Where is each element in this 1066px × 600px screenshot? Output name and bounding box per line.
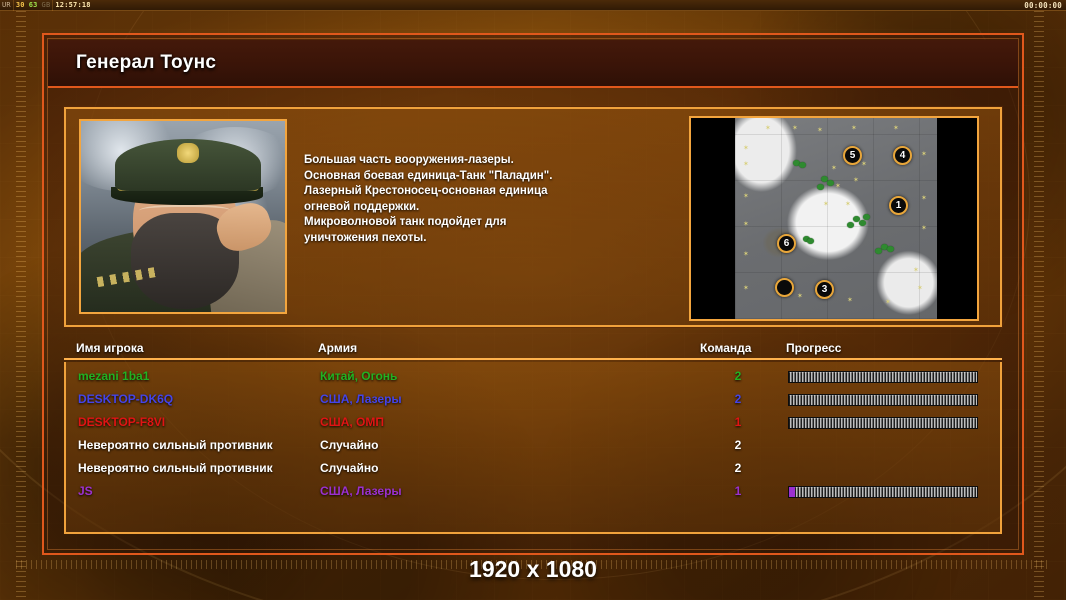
player-name: JS xyxy=(78,484,93,498)
map-resource-icon: ✶ xyxy=(835,184,841,190)
status-value-a: 30 xyxy=(14,0,27,11)
map-tree-icon xyxy=(859,220,866,226)
status-value-b: 63 xyxy=(27,0,40,11)
status-unit: GB xyxy=(40,0,53,11)
player-name: DESKTOP-F8VI xyxy=(78,415,165,429)
player-team: 2 xyxy=(728,438,748,452)
player-team: 2 xyxy=(728,461,748,475)
map-tree-icon xyxy=(799,162,806,168)
map-resource-icon: ✶ xyxy=(743,194,749,200)
column-header-progress: Прогресс xyxy=(786,341,841,355)
map-resource-icon: ✶ xyxy=(743,286,749,292)
column-header-name: Имя игрока xyxy=(76,341,144,355)
general-portrait xyxy=(81,121,285,312)
game-timer: 00:00:00 xyxy=(1024,0,1066,11)
description-line: огневой поддержки. xyxy=(304,200,624,216)
player-army: Случайно xyxy=(320,438,378,452)
map-start-position-1[interactable]: 1 xyxy=(889,196,908,215)
player-name: DESKTOP-DK6Q xyxy=(78,392,173,406)
player-progress-bar xyxy=(788,394,978,406)
player-row[interactable]: DESKTOP-DK6QСША, Лазеры2 xyxy=(66,389,1004,412)
player-progress-bar xyxy=(788,371,978,383)
player-team: 2 xyxy=(728,392,748,406)
map-resource-icon: ✶ xyxy=(743,162,749,168)
player-army: США, Лазеры xyxy=(320,392,402,406)
map-tree-icon xyxy=(887,246,894,252)
map-resource-icon: ✶ xyxy=(743,146,749,152)
player-team: 2 xyxy=(728,369,748,383)
map-resource-icon: ✶ xyxy=(913,268,919,274)
map-resource-icon: ✶ xyxy=(817,128,823,134)
map-resource-icon: ✶ xyxy=(831,166,837,172)
map-preview[interactable]: ✶✶✶✶✶✶✶✶✶✶✶✶✶✶✶✶✶✶✶✶✶✶✶✶✶✶ 54163 xyxy=(735,118,937,319)
map-tree-icon xyxy=(807,238,814,244)
frame-ruler-left xyxy=(16,11,26,600)
player-name: Невероятно сильный противник xyxy=(78,438,273,452)
map-tree-icon xyxy=(875,248,882,254)
player-name: mezani 1ba1 xyxy=(78,369,149,383)
map-resource-icon: ✶ xyxy=(917,286,923,292)
map-resource-icon: ✶ xyxy=(921,196,927,202)
description-line: Лазерный Крестоносец-основная единица xyxy=(304,184,624,200)
map-start-position-5[interactable]: 5 xyxy=(843,146,862,165)
glasses-icon xyxy=(139,205,231,219)
map-tree-icon xyxy=(863,214,870,220)
map-resource-icon: ✶ xyxy=(851,126,857,132)
description-line: Основная боевая единица-Танк "Паладин". xyxy=(304,169,624,185)
map-start-position-3[interactable]: 3 xyxy=(815,280,834,299)
player-progress-bar xyxy=(788,417,978,429)
map-resource-icon: ✶ xyxy=(845,202,851,208)
player-row[interactable]: JSСША, Лазеры1 xyxy=(66,481,1004,504)
panel-titlebar: Генерал Тоунс xyxy=(48,40,1018,88)
map-start-position-6[interactable]: 6 xyxy=(777,234,796,253)
general-info-row: Большая часть вооружения-лазеры. Основна… xyxy=(64,107,1002,327)
description-line: уничтожения пехоты. xyxy=(304,231,624,247)
player-army: Случайно xyxy=(320,461,378,475)
player-table-body: mezani 1ba1Китай, Огонь2DESKTOP-DK6QСША,… xyxy=(64,362,1002,534)
map-preview-frame[interactable]: ✶✶✶✶✶✶✶✶✶✶✶✶✶✶✶✶✶✶✶✶✶✶✶✶✶✶ 54163 xyxy=(689,116,979,321)
player-row[interactable]: mezani 1ba1Китай, Огонь2 xyxy=(66,366,1004,389)
resolution-label: 1920 x 1080 xyxy=(0,556,1066,583)
player-row[interactable]: DESKTOP-F8VIСША, ОМП1 xyxy=(66,412,1004,435)
description-line: Большая часть вооружения-лазеры. xyxy=(304,153,624,169)
map-resource-icon: ✶ xyxy=(921,226,927,232)
map-resource-icon: ✶ xyxy=(743,252,749,258)
player-army: США, Лазеры xyxy=(320,484,402,498)
player-table-header: Имя игрока Армия Команда Прогресс xyxy=(64,338,1002,360)
frame-ruler-right xyxy=(1034,11,1044,600)
map-resource-icon: ✶ xyxy=(743,222,749,228)
system-status-bar: UR 30 63 GB 12:57:18 00:00:00 xyxy=(0,0,1066,11)
map-resource-icon: ✶ xyxy=(797,294,803,300)
map-resource-icon: ✶ xyxy=(765,126,771,132)
map-tree-icon xyxy=(817,184,824,190)
cap-badge-icon xyxy=(177,143,199,163)
general-description: Большая часть вооружения-лазеры. Основна… xyxy=(304,153,624,246)
map-resource-icon: ✶ xyxy=(853,178,859,184)
map-start-position-empty[interactable] xyxy=(775,278,794,297)
page-title: Генерал Тоунс xyxy=(76,52,216,74)
player-army: США, ОМП xyxy=(320,415,384,429)
column-header-team: Команда xyxy=(700,341,751,355)
map-start-position-4[interactable]: 4 xyxy=(893,146,912,165)
player-row[interactable]: Невероятно сильный противникСлучайно2 xyxy=(66,435,1004,458)
player-army: Китай, Огонь xyxy=(320,369,397,383)
map-resource-icon: ✶ xyxy=(861,162,867,168)
player-team: 1 xyxy=(728,484,748,498)
player-progress-fill xyxy=(789,487,795,497)
map-tree-icon xyxy=(827,180,834,186)
player-team: 1 xyxy=(728,415,748,429)
map-resource-icon: ✶ xyxy=(823,202,829,208)
map-tree-icon xyxy=(847,222,854,228)
system-clock: 12:57:18 xyxy=(53,0,92,11)
player-progress-bar xyxy=(788,486,978,498)
column-header-army: Армия xyxy=(318,341,357,355)
status-label: UR xyxy=(0,0,13,11)
description-line: Микроволновой танк подойдет для xyxy=(304,215,624,231)
map-resource-icon: ✶ xyxy=(847,298,853,304)
player-row[interactable]: Невероятно сильный противникСлучайно2 xyxy=(66,458,1004,481)
map-resource-icon: ✶ xyxy=(921,152,927,158)
map-resource-icon: ✶ xyxy=(885,300,891,306)
map-resource-icon: ✶ xyxy=(792,126,798,132)
panel-content: Большая часть вооружения-лазеры. Основна… xyxy=(48,90,1018,552)
general-portrait-frame xyxy=(79,119,287,314)
player-name: Невероятно сильный противник xyxy=(78,461,273,475)
map-resource-icon: ✶ xyxy=(893,126,899,132)
